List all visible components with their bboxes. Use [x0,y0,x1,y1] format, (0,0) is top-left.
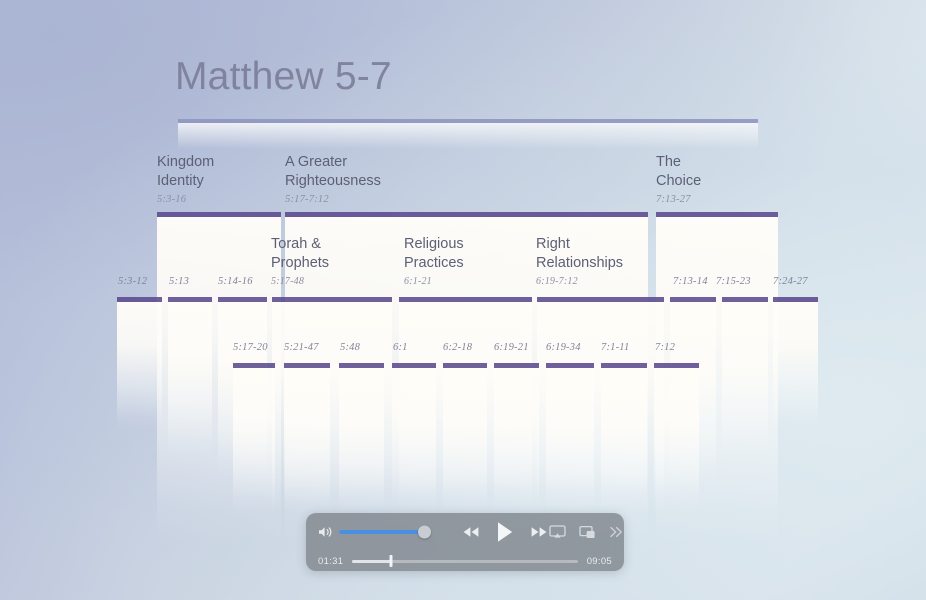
level4-column-0[interactable] [233,363,275,513]
volume-knob[interactable] [418,526,431,539]
level4-column-8[interactable] [654,363,699,513]
level2-label-2[interactable]: Right Relationships 6:19-7:12 [536,235,666,287]
level2-ref-2: 6:19-7:12 [536,276,666,287]
level3-column-0[interactable] [117,297,162,430]
level3-body-4 [722,302,768,457]
volume-icon[interactable] [318,525,334,539]
level4-column-4[interactable] [443,363,487,513]
level4-body-8 [654,368,699,513]
level3-column-1[interactable] [168,297,212,457]
volume-fill [339,530,425,534]
volume-slider[interactable] [339,530,425,534]
play-icon[interactable] [495,520,515,544]
airplay-icon[interactable] [549,525,566,540]
level3-ref-4: 7:15-23 [716,276,751,287]
level4-body-3 [392,368,436,513]
level1-name-0: Kingdom Identity [157,153,272,191]
level3-body-0 [117,302,162,430]
level2-ref-1: 6:1-21 [404,276,524,287]
level4-column-6[interactable] [546,363,594,513]
level1-name-1: A Greater Righteousness [285,153,445,191]
current-time-label: 01:31 [318,556,343,567]
level3-column-5[interactable] [773,297,818,432]
total-time-label: 09:05 [587,556,612,567]
level4-column-3[interactable] [392,363,436,513]
level3-body-1 [168,302,212,457]
player-scrub-row: 01:31 09:05 [306,551,624,571]
media-player-controls[interactable]: 01:31 09:05 [306,513,624,571]
level4-ref-7: 7:1-11 [601,342,629,353]
level4-ref-4: 6:2-18 [443,342,472,353]
level4-ref-8: 7:12 [655,342,675,353]
level2-name-0: Torah & Prophets [271,235,391,273]
level3-ref-0: 5:3-12 [118,276,147,287]
level4-ref-0: 5:17-20 [233,342,268,353]
level2-name-2: Right Relationships [536,235,666,273]
chevron-double-right-icon[interactable] [609,525,624,539]
rewind-icon[interactable] [461,525,481,539]
level4-ref-3: 6:1 [393,342,408,353]
player-top-row [306,513,624,551]
player-right-icons [549,525,624,540]
level2-label-1[interactable]: Religious Practices 6:1-21 [404,235,524,287]
level4-body-1 [284,368,330,513]
level1-ref-2: 7:13-27 [656,194,766,205]
level4-column-2[interactable] [339,363,384,513]
presentation-canvas: Matthew 5-7 Kingdom Identity 5:3-16 A Gr… [0,0,926,600]
outline-root-band[interactable] [178,119,758,149]
level1-label-0[interactable]: Kingdom Identity 5:3-16 [157,153,272,205]
level4-body-5 [494,368,539,513]
scrubber-played [352,560,390,563]
level4-ref-2: 5:48 [340,342,360,353]
page-title: Matthew 5-7 [175,55,392,99]
level2-label-0[interactable]: Torah & Prophets 5:17-48 [271,235,391,287]
scrubber-handle[interactable] [389,555,392,567]
level4-column-5[interactable] [494,363,539,513]
level3-ref-5: 7:24-27 [773,276,808,287]
level4-column-1[interactable] [284,363,330,513]
playback-scrubber[interactable] [352,560,577,563]
level1-name-2: The Choice [656,153,766,191]
level1-label-2[interactable]: The Choice 7:13-27 [656,153,766,205]
level4-body-6 [546,368,594,513]
level2-ref-0: 5:17-48 [271,276,391,287]
level4-body-2 [339,368,384,513]
level4-body-7 [601,368,647,513]
level1-ref-0: 5:3-16 [157,194,272,205]
level1-label-1[interactable]: A Greater Righteousness 5:17-7:12 [285,153,445,205]
level3-body-5 [773,302,818,432]
level3-ref-3: 7:13-14 [673,276,708,287]
level4-body-0 [233,368,275,513]
level3-ref-1: 5:13 [169,276,189,287]
root-band-body [178,123,758,149]
transport-controls [461,520,549,544]
picture-in-picture-icon[interactable] [579,525,596,540]
level2-name-1: Religious Practices [404,235,524,273]
level4-ref-5: 6:19-21 [494,342,529,353]
fast-forward-icon[interactable] [529,525,549,539]
level3-column-4[interactable] [722,297,768,457]
volume-control[interactable] [318,525,425,539]
level3-ref-2: 5:14-16 [218,276,253,287]
level4-column-7[interactable] [601,363,647,513]
level1-ref-1: 5:17-7:12 [285,194,445,205]
level4-body-4 [443,368,487,513]
level4-ref-1: 5:21-47 [284,342,319,353]
level4-ref-6: 6:19-34 [546,342,581,353]
